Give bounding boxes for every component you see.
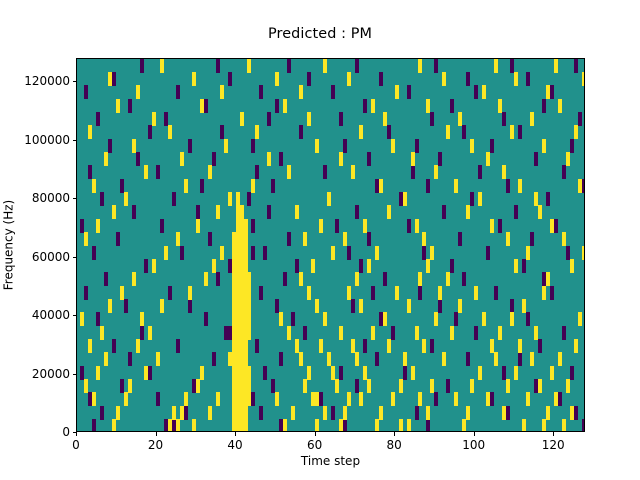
x-tick-label: 20 [148, 438, 163, 452]
y-tick-mark [73, 315, 77, 316]
y-axis-label: Frequency (Hz) [0, 58, 16, 432]
x-tick-label: 40 [227, 438, 242, 452]
x-tick-mark [474, 432, 475, 436]
x-tick-mark [235, 432, 236, 436]
y-tick-label: 60000 [32, 250, 70, 264]
y-tick-mark [73, 257, 77, 258]
y-tick-label: 20000 [32, 367, 70, 381]
x-tick-mark [156, 432, 157, 436]
y-tick-mark [73, 432, 77, 433]
figure-canvas: Predicted : PM 0204060801001200200004000… [0, 0, 640, 480]
x-tick-mark [553, 432, 554, 436]
y-tick-label: 0 [62, 425, 70, 439]
heatmap-axes[interactable] [76, 58, 585, 432]
x-tick-label: 120 [542, 438, 565, 452]
x-tick-label: 80 [386, 438, 401, 452]
page-title: Predicted : PM [0, 26, 640, 43]
x-tick-label: 0 [72, 438, 80, 452]
y-tick-mark [73, 81, 77, 82]
y-axis-label-text: Frequency (Hz) [1, 200, 15, 291]
y-tick-mark [73, 374, 77, 375]
x-tick-mark [76, 432, 77, 436]
y-tick-mark [73, 198, 77, 199]
heatmap-image [77, 59, 585, 432]
y-tick-label: 80000 [32, 191, 70, 205]
x-tick-label: 100 [462, 438, 485, 452]
y-tick-mark [73, 140, 77, 141]
y-tick-label: 40000 [32, 308, 70, 322]
x-tick-mark [315, 432, 316, 436]
x-axis-label: Time step [76, 454, 585, 468]
y-tick-label: 100000 [24, 133, 70, 147]
x-tick-mark [394, 432, 395, 436]
y-tick-label: 120000 [24, 74, 70, 88]
x-tick-label: 60 [307, 438, 322, 452]
